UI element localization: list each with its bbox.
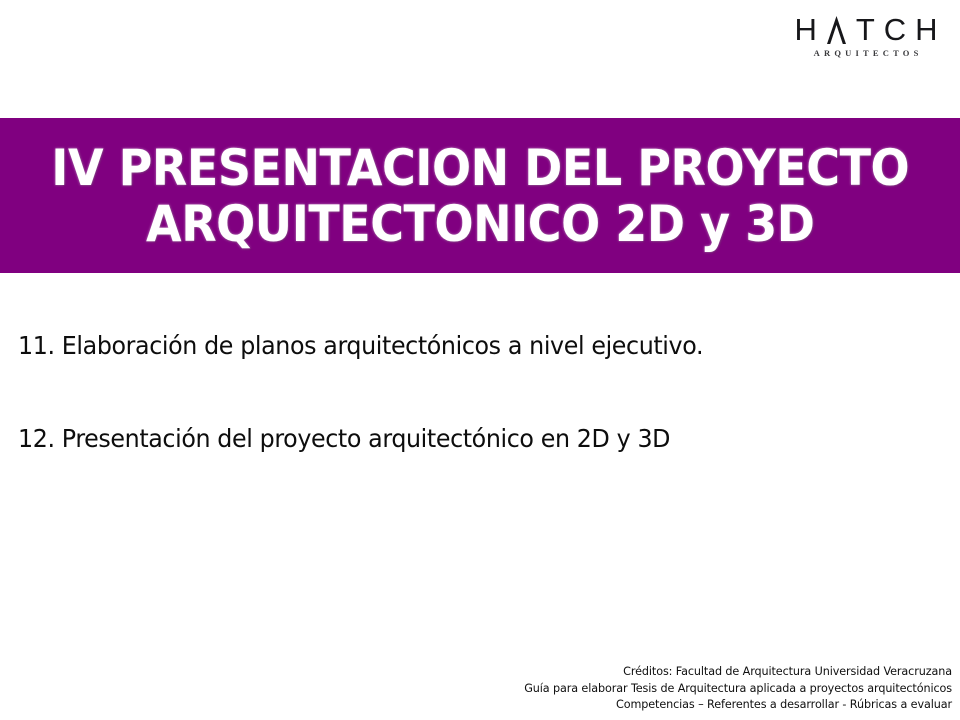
credit-line-2: Guía para elaborar Tesis de Arquitectura… — [524, 681, 952, 698]
logo-wordmark: H T C H — [786, 14, 946, 45]
hatch-arquitectos-logo: H T C H ARQUITECTOS — [786, 14, 946, 58]
logo-letter-h-right: H — [915, 14, 937, 45]
slide-title-banner: IV PRESENTACION DEL PROYECTO ARQUITECTON… — [0, 118, 960, 273]
credit-line-3: Competencias – Referentes a desarrollar … — [524, 697, 952, 714]
slide-title-line-1: IV PRESENTACION DEL PROYECTO — [51, 140, 909, 196]
logo-letter-a-chevron-icon — [826, 15, 847, 45]
bullet-item-12: 12. Presentación del proyecto arquitectó… — [18, 423, 875, 454]
slide-title-line-2: ARQUITECTONICO 2D y 3D — [146, 196, 814, 252]
logo-letter-t: T — [856, 14, 875, 45]
presentation-slide: H T C H ARQUITECTOS IV PRESENTACION DEL … — [0, 0, 960, 720]
logo-subtitle: ARQUITECTOS — [786, 49, 946, 58]
slide-body: 11. Elaboración de planos arquitectónico… — [18, 330, 920, 455]
logo-letter-h-left: H — [794, 14, 816, 45]
credits-block: Créditos: Facultad de Arquitectura Unive… — [524, 664, 952, 714]
bullet-spacer — [18, 361, 920, 423]
bullet-item-11: 11. Elaboración de planos arquitectónico… — [18, 330, 875, 361]
credit-line-1: Créditos: Facultad de Arquitectura Unive… — [524, 664, 952, 681]
logo-letter-c: C — [884, 14, 906, 45]
